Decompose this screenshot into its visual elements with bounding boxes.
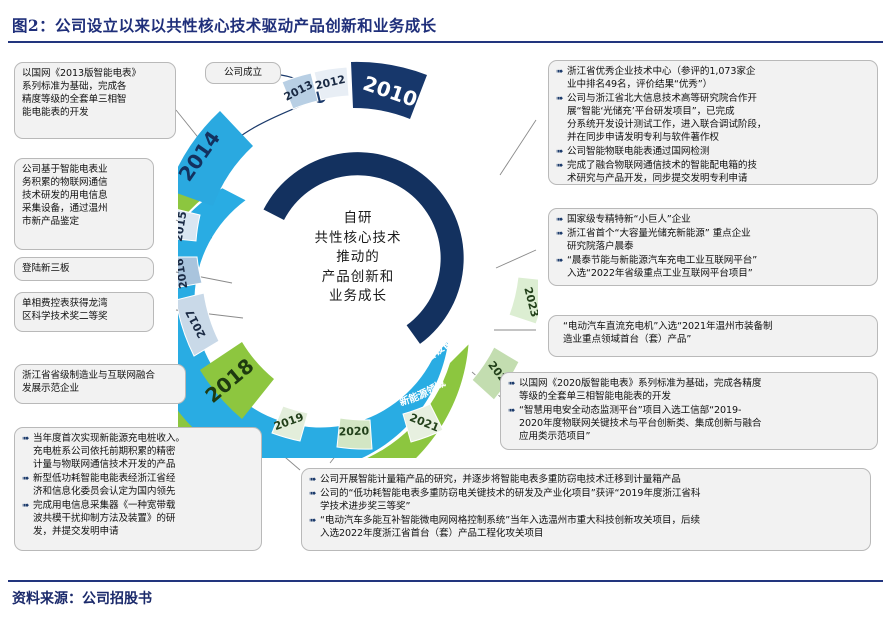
callout-2014-line-2: 务积累的物联网通信 (22, 177, 146, 190)
bullet-arrow-icon: ➠ (508, 405, 519, 417)
callout-2019[interactable]: ➠ 公司开展智能计量箱产品的研究，并逐步将智能电表多重防窃电技术迁移到计量箱产品… (301, 468, 871, 551)
callout-2020-b1-l2: 等级的全套单三相智能电能表的开发 (519, 391, 870, 404)
footer-divider (8, 580, 883, 582)
callout-company-founded-label: 公司成立 (224, 67, 262, 80)
bullet-arrow-icon: ➠ (309, 474, 320, 486)
callout-2014-line-5: 市新产品鉴定 (22, 216, 146, 229)
page-title: 图2：公司设立以来以共性核心技术驱动产品创新和业务成长 (12, 14, 437, 36)
callout-2019-bullet-1: ➠ 公司开展智能计量箱产品的研究，并逐步将智能电表多重防窃电技术迁移到计量箱产品 (309, 474, 863, 487)
callout-2010-line-1: 以国网《2013版智能电表》 (22, 68, 168, 81)
bullet-arrow-icon: ➠ (556, 214, 567, 226)
figure-header: 图2：公司设立以来以共性核心技术驱动产品创新和业务成长 (8, 8, 883, 46)
year-label-2020: 2020 (338, 424, 369, 438)
callout-2018[interactable]: ➠ 当年度首次实现新能源充电桩收入。 充电桩系公司依托前期积累的精密 计量与物联… (14, 427, 262, 551)
callout-2022-b3-l2: 入选“2022年省级重点工业互联网平台项目” (567, 268, 870, 281)
callout-2023-bullet-2: ➠ 公司与浙江省北大信息技术高等研究院合作开 展“智能‘光储充’平台研发项目”，… (556, 93, 870, 145)
callout-2014-line-4: 采集设备，通过温州 (22, 203, 146, 216)
callout-2019-b2-l2: 学技术进步奖三等奖” (320, 501, 863, 514)
callout-2023-b4-l1: 完成了融合物联网通信技术的智能配电箱的技 (567, 160, 870, 173)
callout-2023-b2-l4: 并在同步申请发明专利与软件著作权 (567, 132, 870, 145)
callout-2014-line-1: 公司基于智能电表业 (22, 164, 146, 177)
callout-2018-b3-l2: 波共模干扰抑制方法及装置》的研 (33, 513, 254, 526)
callout-2023-b3-l1: 公司智能物联电能表通过国网检测 (567, 146, 870, 159)
callout-2019-b1-l1: 公司开展智能计量箱产品的研究，并逐步将智能电表多重防窃电技术迁移到计量箱产品 (320, 474, 863, 487)
callout-2020-b2-l1: “智慧用电安全动态监测平台”项目入选工信部“2019- (519, 405, 870, 418)
callout-2020[interactable]: ➠ 以国网《2020版智能电表》系列标准为基础，完成各精度 等级的全套单三相智能… (500, 372, 878, 450)
bullet-arrow-icon: ➠ (556, 66, 567, 78)
callout-2018-bullet-1: ➠ 当年度首次实现新能源充电桩收入。 充电桩系公司依托前期积累的精密 计量与物联… (22, 433, 254, 472)
callout-2023-b1-l2: 业中排名49名，评价结果“优秀”） (567, 79, 870, 92)
title-divider (8, 41, 883, 43)
callout-2017-line-2: 发展示范企业 (22, 383, 178, 396)
callout-2023[interactable]: ➠ 浙江省优秀企业技术中心（参评的1,073家企 业中排名49名，评价结果“优秀… (548, 60, 878, 185)
callout-2022-bullet-2: ➠ 浙江省首个“大容量光储充新能源” 重点企业 研究院落户晨泰 (556, 228, 870, 254)
callout-company-founded[interactable]: 公司成立 (205, 62, 281, 84)
callout-2015[interactable]: 登陆新三板 (14, 257, 154, 281)
callout-2016-line-1: 单相费控表获得龙湾 (22, 298, 146, 311)
callout-2020-b2-l2: 2020年度物联网关键技术与平台创新类、集成创新与融合 (519, 418, 870, 431)
bullet-arrow-icon: ➠ (556, 146, 567, 158)
callout-2015-line-1: 登陆新三板 (22, 263, 69, 276)
callout-2022-bullet-1: ➠ 国家级专精特新“小巨人”企业 (556, 214, 870, 227)
callout-2021-line-2: 造业重点领域首台（套）产品” (563, 334, 870, 347)
bullet-arrow-icon: ➠ (556, 93, 567, 105)
callout-2020-b1-l1: 以国网《2020版智能电表》系列标准为基础，完成各精度 (519, 378, 870, 391)
bullet-arrow-icon: ➠ (22, 433, 33, 445)
callout-2020-b2-l3: 应用类示范项目” (519, 431, 870, 444)
callout-2019-b3-l2: 入选2022年度浙江省首台（套）产品工程化攻关项目 (320, 528, 863, 541)
bullet-arrow-icon: ➠ (556, 160, 567, 172)
callout-2023-b2-l2: 展“智能‘光储充’平台研发项目”，已完成 (567, 106, 870, 119)
callout-2023-bullet-4: ➠ 完成了融合物联网通信技术的智能配电箱的技 术研究与产品开发，同步提交发明专利… (556, 160, 870, 186)
callout-2010-line-3: 精度等级的全套单三相智 (22, 94, 168, 107)
callout-2014-line-3: 技术研发的用电信息 (22, 190, 146, 203)
callout-2020-bullet-1: ➠ 以国网《2020版智能电表》系列标准为基础，完成各精度 等级的全套单三相智能… (508, 378, 870, 404)
figure-source: 资料来源：公司招股书 (12, 588, 152, 608)
callout-2010-line-4: 能电能表的开发 (22, 107, 168, 120)
callout-2018-b2-l1: 新型低功耗智能电能表经浙江省经 (33, 473, 254, 486)
callout-2014[interactable]: 公司基于智能电表业 务积累的物联网通信 技术研发的用电信息 采集设备，通过温州 … (14, 158, 154, 250)
callout-2023-b4-l2: 术研究与产品开发，同步提交发明专利申请 (567, 173, 870, 186)
callout-2022-b2-l1: 浙江省首个“大容量光储充新能源” 重点企业 (567, 228, 870, 241)
callout-2017-line-1: 浙江省省级制造业与互联网融合 (22, 370, 178, 383)
callout-2018-b3-l1: 完成用电信息采集器《一种宽带载 (33, 500, 254, 513)
callout-2023-b2-l3: 分系统开发设计测试工作，进入联合调试阶段， (567, 119, 870, 132)
callout-2022-bullet-3: ➠ “晨泰节能与新能源汽车充电工业互联网平台” 入选“2022年省级重点工业互联… (556, 255, 870, 281)
callout-2019-bullet-2: ➠ 公司的“低功耗智能电表多重防窃电关键技术的研发及产业化项目”获评“2019年… (309, 488, 863, 514)
callout-2022[interactable]: ➠ 国家级专精特新“小巨人”企业 ➠ 浙江省首个“大容量光储充新能源” 重点企业… (548, 208, 878, 286)
callout-2020-bullet-2: ➠ “智慧用电安全动态监测平台”项目入选工信部“2019- 2020年度物联网关… (508, 405, 870, 444)
callout-2023-bullet-1: ➠ 浙江省优秀企业技术中心（参评的1,073家企 业中排名49名，评价结果“优秀… (556, 66, 870, 92)
callout-2018-b1-l1: 当年度首次实现新能源充电桩收入。 (33, 433, 254, 446)
callout-2018-b1-l2: 充电桩系公司依托前期积累的精密 (33, 446, 254, 459)
bullet-arrow-icon: ➠ (22, 500, 33, 512)
callout-2019-bullet-3: ➠ “电动汽车多能互补智能微电网网格控制系统”当年入选温州市重大科技创新攻关项目… (309, 515, 863, 541)
wheel-svg: 智能电表业务 计量配套设备业务 新能源领域 2010 2012 2013 201… (178, 58, 538, 458)
callout-2018-bullet-2: ➠ 新型低功耗智能电能表经浙江省经 济和信息化委员会认定为国内领先 (22, 473, 254, 499)
bullet-arrow-icon: ➠ (556, 228, 567, 240)
callout-2016-line-2: 区科学技术奖二等奖 (22, 311, 146, 324)
ring-smart-meter (264, 152, 464, 344)
callout-2018-b1-l3: 计量与物联网通信技术开发的产品 (33, 459, 254, 472)
callout-2022-b2-l2: 研究院落户晨泰 (567, 241, 870, 254)
callout-2010-line-2: 系列标准为基础，完成各 (22, 81, 168, 94)
bullet-arrow-icon: ➠ (22, 473, 33, 485)
bullet-arrow-icon: ➠ (556, 255, 567, 267)
callout-2018-bullet-3: ➠ 完成用电信息采集器《一种宽带载 波共模干扰抑制方法及装置》的研 发，并提交发… (22, 500, 254, 539)
bullet-arrow-icon: ➠ (508, 378, 519, 390)
callout-2017[interactable]: 浙江省省级制造业与互联网融合 发展示范企业 (14, 364, 186, 404)
callout-2019-b3-l1: “电动汽车多能互补智能微电网网格控制系统”当年入选温州市重大科技创新攻关项目，后… (320, 515, 863, 528)
ring-label-smart-meter: 智能电表业务 (324, 333, 386, 352)
bullet-arrow-icon: ➠ (309, 488, 320, 500)
callout-2023-bullet-3: ➠ 公司智能物联电能表通过国网检测 (556, 146, 870, 159)
callout-2016[interactable]: 单相费控表获得龙湾 区科学技术奖二等奖 (14, 292, 154, 332)
timeline-wheel: 智能电表业务 计量配套设备业务 新能源领域 2010 2012 2013 201… (178, 58, 538, 458)
callout-2018-b2-l2: 济和信息化委员会认定为国内领先 (33, 486, 254, 499)
callout-2021[interactable]: “电动汽车直流充电机”入选“2021年温州市装备制 造业重点领域首台（套）产品” (548, 315, 878, 357)
bullet-arrow-icon: ➠ (309, 515, 320, 527)
callout-2023-b2-l1: 公司与浙江省北大信息技术高等研究院合作开 (567, 93, 870, 106)
callout-2022-b3-l1: “晨泰节能与新能源汽车充电工业互联网平台” (567, 255, 870, 268)
callout-2021-line-1: “电动汽车直流充电机”入选“2021年温州市装备制 (563, 321, 870, 334)
callout-2019-b2-l1: 公司的“低功耗智能电表多重防窃电关键技术的研发及产业化项目”获评“2019年度浙… (320, 488, 863, 501)
callout-2018-b3-l3: 发，并提交发明申请 (33, 526, 254, 539)
callout-2023-b1-l1: 浙江省优秀企业技术中心（参评的1,073家企 (567, 66, 870, 79)
callout-2010[interactable]: 以国网《2013版智能电表》 系列标准为基础，完成各 精度等级的全套单三相智 能… (14, 62, 176, 139)
callout-2022-b1-l1: 国家级专精特新“小巨人”企业 (567, 214, 870, 227)
